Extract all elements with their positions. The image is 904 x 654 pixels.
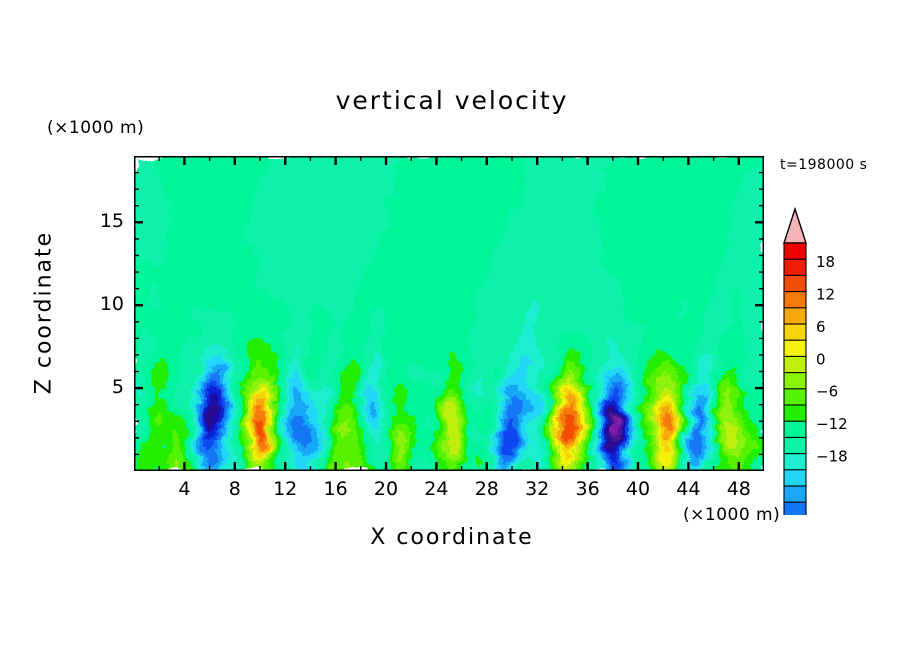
colorbar-tick-label: −18 — [816, 448, 848, 466]
x-axis-unit-label: (×1000 m) — [683, 505, 780, 525]
contour-field — [134, 156, 764, 471]
colorbar-tick-label: −6 — [816, 383, 838, 401]
y-tick-label: 15 — [68, 210, 124, 232]
x-axis-title: X coordinate — [0, 525, 904, 550]
colorbar-tick-label: 12 — [816, 286, 835, 304]
y-axis-unit-label: (×1000 m) — [47, 118, 144, 138]
colorbar-tick-label: 0 — [816, 350, 826, 368]
colorbar-svg: 181260−6−12−18 — [778, 205, 888, 515]
colorbar: 181260−6−12−18 — [778, 205, 888, 515]
y-tick-label: 10 — [68, 293, 124, 315]
y-axis-title: Z coordinate — [32, 213, 57, 413]
colorbar-tick-label: −12 — [816, 415, 848, 433]
colorbar-tick-label: 18 — [816, 253, 835, 271]
y-tick-label: 5 — [68, 376, 124, 398]
timestamp-label: t=198000 s — [780, 157, 867, 173]
x-tick-label: 48 — [709, 478, 769, 500]
chart-title: vertical velocity — [0, 86, 904, 115]
contour-plot-area — [134, 156, 764, 471]
colorbar-tick-label: 6 — [816, 318, 826, 336]
